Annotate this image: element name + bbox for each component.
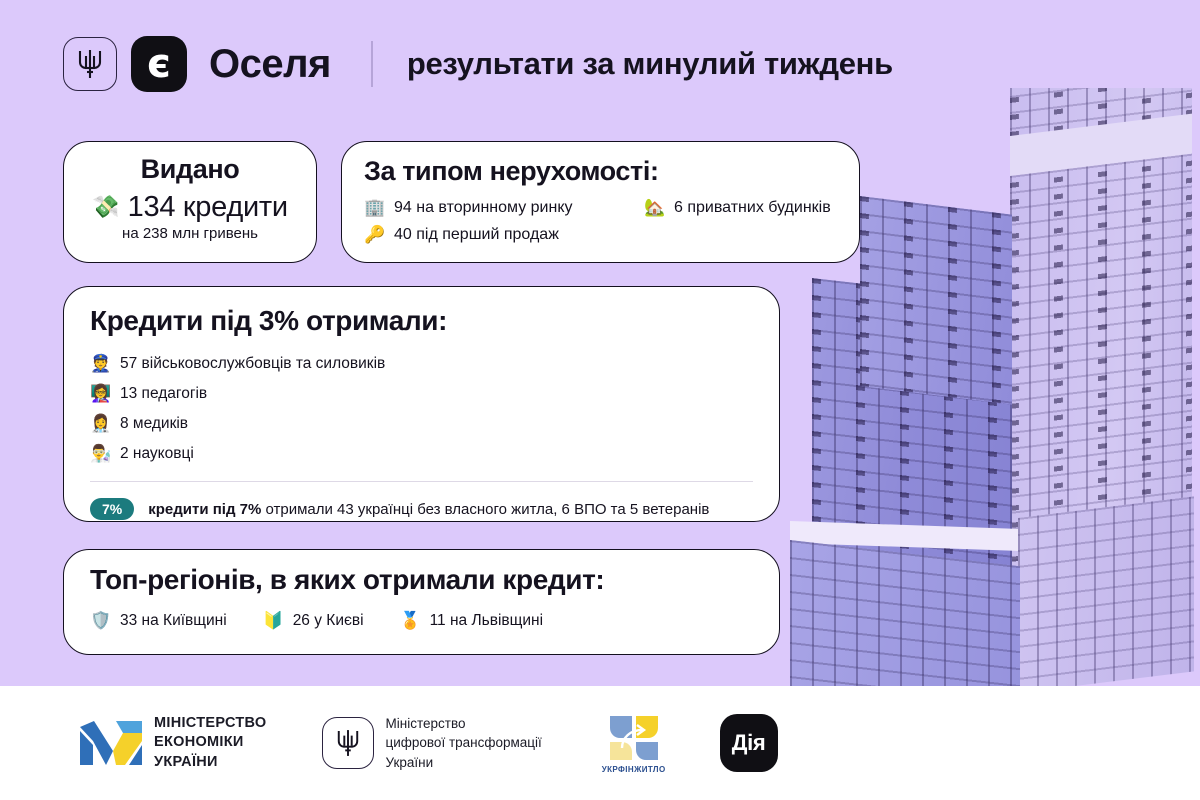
digital-line2: цифрової трансформації — [386, 733, 542, 753]
house-with-garden-icon: 🏡 — [644, 200, 664, 217]
logo-ministry-of-economy: МІНІСТЕРСТВО ЕКОНОМІКИ УКРАЇНИ — [80, 714, 267, 771]
list-item-label: 6 приватних будинків — [674, 199, 831, 217]
logo-ukrfinzhytlo: УКРФІНЖИТЛО — [602, 712, 666, 774]
property-type-column-right: 🏡 6 приватних будинків — [644, 199, 831, 244]
digital-line1: Міністерство — [386, 714, 542, 734]
list-item: 🏡 6 приватних будинків — [644, 199, 831, 217]
infographic-canvas: є Оселя результати за минулий тиждень Ви… — [0, 0, 1200, 800]
rate-7-rest: отримали 43 українці без власного житла,… — [261, 501, 709, 518]
economy-label: МІНІСТЕРСТВО ЕКОНОМІКИ УКРАЇНИ — [154, 714, 267, 771]
list-item-label: 13 педагогів — [120, 385, 207, 403]
card-property-type-title: За типом нерухомості: — [364, 156, 837, 187]
header-divider — [371, 41, 373, 87]
card-top-regions: Топ-регіонів, в яких отримали кредит: 🛡️… — [63, 549, 780, 655]
header-subtitle: результати за минулий тиждень — [407, 46, 893, 82]
health-worker-icon: 👩‍⚕️ — [90, 416, 110, 433]
logo-ministry-of-digital-transformation: Міністерство цифрової трансформації Укра… — [322, 714, 542, 773]
window-grid-podium-front — [790, 540, 1020, 686]
list-item: 🛡️ 33 на Київщині — [90, 612, 227, 630]
economy-line3: УКРАЇНИ — [154, 753, 267, 772]
diia-e-glyph: є — [147, 44, 171, 84]
rate-7-footnote: 7% кредити під 7% отримали 43 українці б… — [90, 498, 753, 520]
status-badge: 7% — [90, 498, 134, 520]
window-dots-upper — [860, 196, 1012, 405]
list-item: 🔰 26 у Києві — [263, 612, 364, 630]
card-issued-title: Видано — [64, 154, 316, 185]
logo-diia: Дія — [720, 714, 778, 772]
list-item: 🏢 94 на вторинному ринку — [364, 199, 644, 217]
list-item-label: 94 на вторинному ринку — [394, 199, 573, 217]
rate-7-text: кредити під 7% отримали 43 українці без … — [148, 501, 709, 518]
trident-icon — [63, 37, 117, 91]
kyiv-city-emblem-icon: 🔰 — [263, 613, 283, 630]
issued-subtitle: на 238 млн гривень — [64, 225, 316, 242]
page-header: є Оселя результати за минулий тиждень — [63, 36, 893, 92]
trident-icon — [322, 717, 374, 769]
kyiv-oblast-emblem-icon: 🛡️ — [90, 613, 110, 630]
property-type-column-left: 🏢 94 на вторинному ринку 🔑 40 під перший… — [364, 199, 644, 244]
list-item: 🔑 40 під перший продаж — [364, 226, 644, 244]
card-issued: Видано 💸 134 кредити на 238 млн гривень — [63, 141, 317, 263]
card-rate-3: Кредити під 3% отримали: 👮 57 військовос… — [63, 286, 780, 522]
economy-line2: ЕКОНОМІКИ — [154, 733, 267, 752]
list-item-label: 11 на Львівщині — [430, 612, 543, 630]
region-rows: 🛡️ 33 на Київщині 🔰 26 у Києві 🏅 11 на Л… — [90, 612, 753, 630]
key-icon: 🔑 — [364, 227, 384, 244]
card-divider — [90, 481, 753, 482]
ukrfinzhytlo-label: УКРФІНЖИТЛО — [602, 765, 666, 774]
podium-front-face — [790, 540, 1020, 686]
rate-7-bold: кредити під 7% — [148, 501, 261, 518]
issued-count: 134 кредити — [128, 191, 288, 224]
window-grid-podium-side — [1018, 496, 1194, 686]
card-property-type: За типом нерухомості: 🏢 94 на вторинному… — [341, 141, 860, 263]
ukrfinzhytlo-icon — [606, 712, 662, 762]
scientist-icon: 👨‍🔬 — [90, 446, 110, 463]
teacher-icon: 👩‍🏫 — [90, 386, 110, 403]
economy-m-icon — [80, 721, 142, 765]
card-top-regions-title: Топ-регіонів, в яких отримали кредит: — [90, 564, 753, 596]
tower-upper-front — [860, 196, 1012, 405]
list-item: 👨‍🔬 2 науковці — [90, 445, 753, 463]
list-item: 🏅 11 на Львівщині — [400, 612, 543, 630]
list-item-label: 40 під перший продаж — [394, 226, 559, 244]
list-item-label: 2 науковці — [120, 445, 194, 463]
economy-line1: МІНІСТЕРСТВО — [154, 714, 267, 733]
list-item: 👩‍🏫 13 педагогів — [90, 385, 753, 403]
digital-line3: України — [386, 753, 542, 773]
rate-3-list: 👮 57 військовослужбовців та силовиків 👩‍… — [90, 355, 753, 463]
list-item: 👮 57 військовослужбовців та силовиків — [90, 355, 753, 373]
footer-logos: МІНІСТЕРСТВО ЕКОНОМІКИ УКРАЇНИ Міністерс… — [0, 686, 1200, 800]
list-item-label: 26 у Києві — [293, 612, 364, 630]
issued-main-row: 💸 134 кредити — [64, 191, 316, 224]
diia-e-logo: є — [131, 36, 187, 92]
diia-label: Дія — [732, 730, 766, 756]
lviv-oblast-emblem-icon: 🏅 — [400, 613, 420, 630]
digital-label: Міністерство цифрової трансформації Укра… — [386, 714, 542, 773]
list-item-label: 8 медиків — [120, 415, 188, 433]
diia-badge: Дія — [720, 714, 778, 772]
police-officer-icon: 👮 — [90, 356, 110, 373]
podium-side-face — [1018, 496, 1194, 686]
list-item-label: 33 на Київщині — [120, 612, 227, 630]
property-type-rows: 🏢 94 на вторинному ринку 🔑 40 під перший… — [364, 199, 837, 244]
office-building-icon: 🏢 — [364, 200, 384, 217]
page-title: Оселя — [209, 42, 331, 87]
list-item-label: 57 військовослужбовців та силовиків — [120, 355, 385, 373]
card-rate-3-title: Кредити під 3% отримали: — [90, 305, 753, 337]
list-item: 👩‍⚕️ 8 медиків — [90, 415, 753, 433]
money-with-wings-icon: 💸 — [92, 197, 119, 219]
